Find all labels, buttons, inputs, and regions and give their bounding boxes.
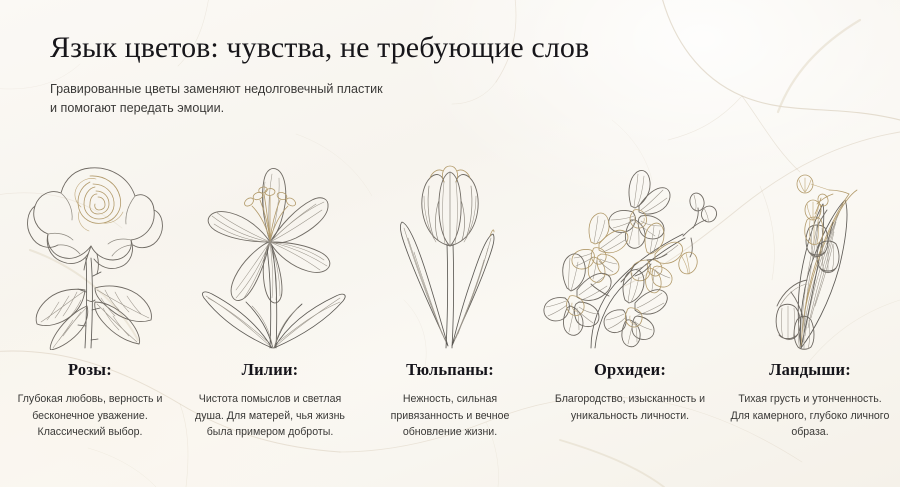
caption-body: Благородство, изысканность и уникальност… (548, 391, 712, 424)
caption-lily: Лилии: Чистота помыслов и светлая душа. … (180, 360, 360, 441)
caption-rose: Розы: Глубокая любовь, верность и бескон… (0, 360, 180, 441)
caption-title: Орхидеи: (548, 360, 712, 380)
poster-header: Язык цветов: чувства, не требующие слов … (50, 30, 850, 119)
caption-title: Ландыши: (728, 360, 892, 380)
caption-body: Глубокая любовь, верность и бесконечное … (8, 391, 172, 441)
page-subtitle: Гравированные цветы заменяют недолговечн… (50, 80, 570, 119)
caption-body: Тихая грусть и утонченность. Для камерно… (728, 391, 892, 441)
flower-illustration-lily-of-the-valley (720, 145, 900, 350)
flower-illustration-lily (180, 145, 360, 350)
flower-illustration-orchid (540, 145, 720, 350)
caption-body: Чистота помыслов и светлая душа. Для мат… (188, 391, 352, 441)
caption-title: Лилии: (188, 360, 352, 380)
caption-body: Нежность, сильная привязанность и вечное… (368, 391, 532, 441)
caption-orchid: Орхидеи: Благородство, изысканность и ун… (540, 360, 720, 441)
caption-lily-of-the-valley: Ландыши: Тихая грусть и утонченность. Дл… (720, 360, 900, 441)
flower-caption-row: Розы: Глубокая любовь, верность и бескон… (0, 360, 900, 441)
caption-tulip: Тюльпаны: Нежность, сильная привязанност… (360, 360, 540, 441)
flower-illustration-tulip (360, 145, 540, 350)
caption-title: Тюльпаны: (368, 360, 532, 380)
flower-illustration-rose (0, 145, 180, 350)
subtitle-line-1: Гравированные цветы заменяют недолговечн… (50, 80, 570, 100)
caption-title: Розы: (8, 360, 172, 380)
subtitle-line-2: и помогают передать эмоции. (50, 99, 570, 119)
flower-illustration-row (0, 145, 900, 350)
page-title: Язык цветов: чувства, не требующие слов (50, 30, 850, 67)
poster-canvas: Язык цветов: чувства, не требующие слов … (0, 0, 900, 487)
